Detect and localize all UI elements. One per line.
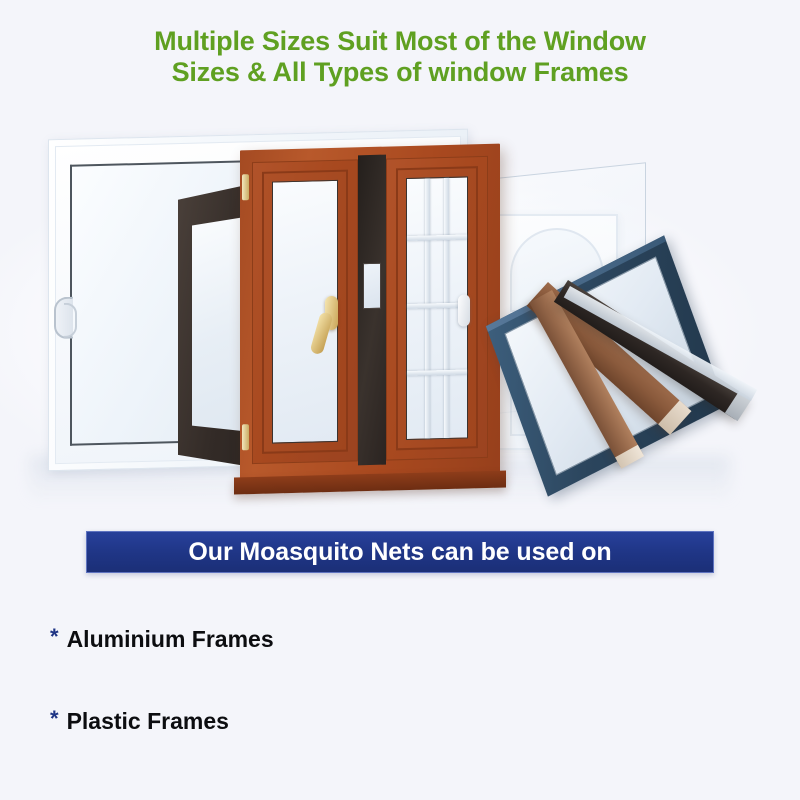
wood-left-leaf: [252, 159, 358, 464]
page-title-line-1: Multiple Sizes Suit Most of the Window: [0, 26, 800, 57]
list-item-label: Aluminium Frames: [67, 626, 274, 653]
white-window-handle-icon: [54, 297, 73, 339]
asterisk-icon: *: [50, 708, 59, 730]
list-item-aluminium-frames: * Aluminium Frames: [0, 598, 400, 680]
wood-hinge-bottom-icon: [242, 424, 249, 450]
section-banner: Our Moasquito Nets can be used on: [86, 531, 714, 573]
page-title-line-2: Sizes & All Types of window Frames: [0, 57, 800, 88]
list-item-label: Plastic Frames: [67, 708, 229, 735]
section-banner-label: Our Moasquito Nets can be used on: [188, 538, 611, 567]
frame-type-list: * Aluminium Frames * Wooden Frames * Pla…: [0, 598, 800, 762]
list-item-wooden-frames: * Wooden Frames: [400, 598, 800, 680]
page-title: Multiple Sizes Suit Most of the Window S…: [0, 26, 800, 88]
list-item-plastic-frames: * Plastic Frames: [0, 680, 400, 762]
asterisk-icon: *: [50, 626, 59, 648]
product-image: [0, 104, 800, 510]
wooden-double-window: [240, 144, 500, 481]
wood-hinge-top-icon: [242, 174, 249, 200]
wood-mullion: [358, 155, 386, 466]
wood-mullion-pane: [363, 263, 381, 309]
wood-lever-handle-icon: [458, 294, 470, 326]
wood-brass-handle-icon: [325, 296, 338, 330]
list-item-upvc-frames: * UPVC Frames & more...: [400, 680, 800, 762]
wood-right-leaf: [386, 156, 488, 461]
